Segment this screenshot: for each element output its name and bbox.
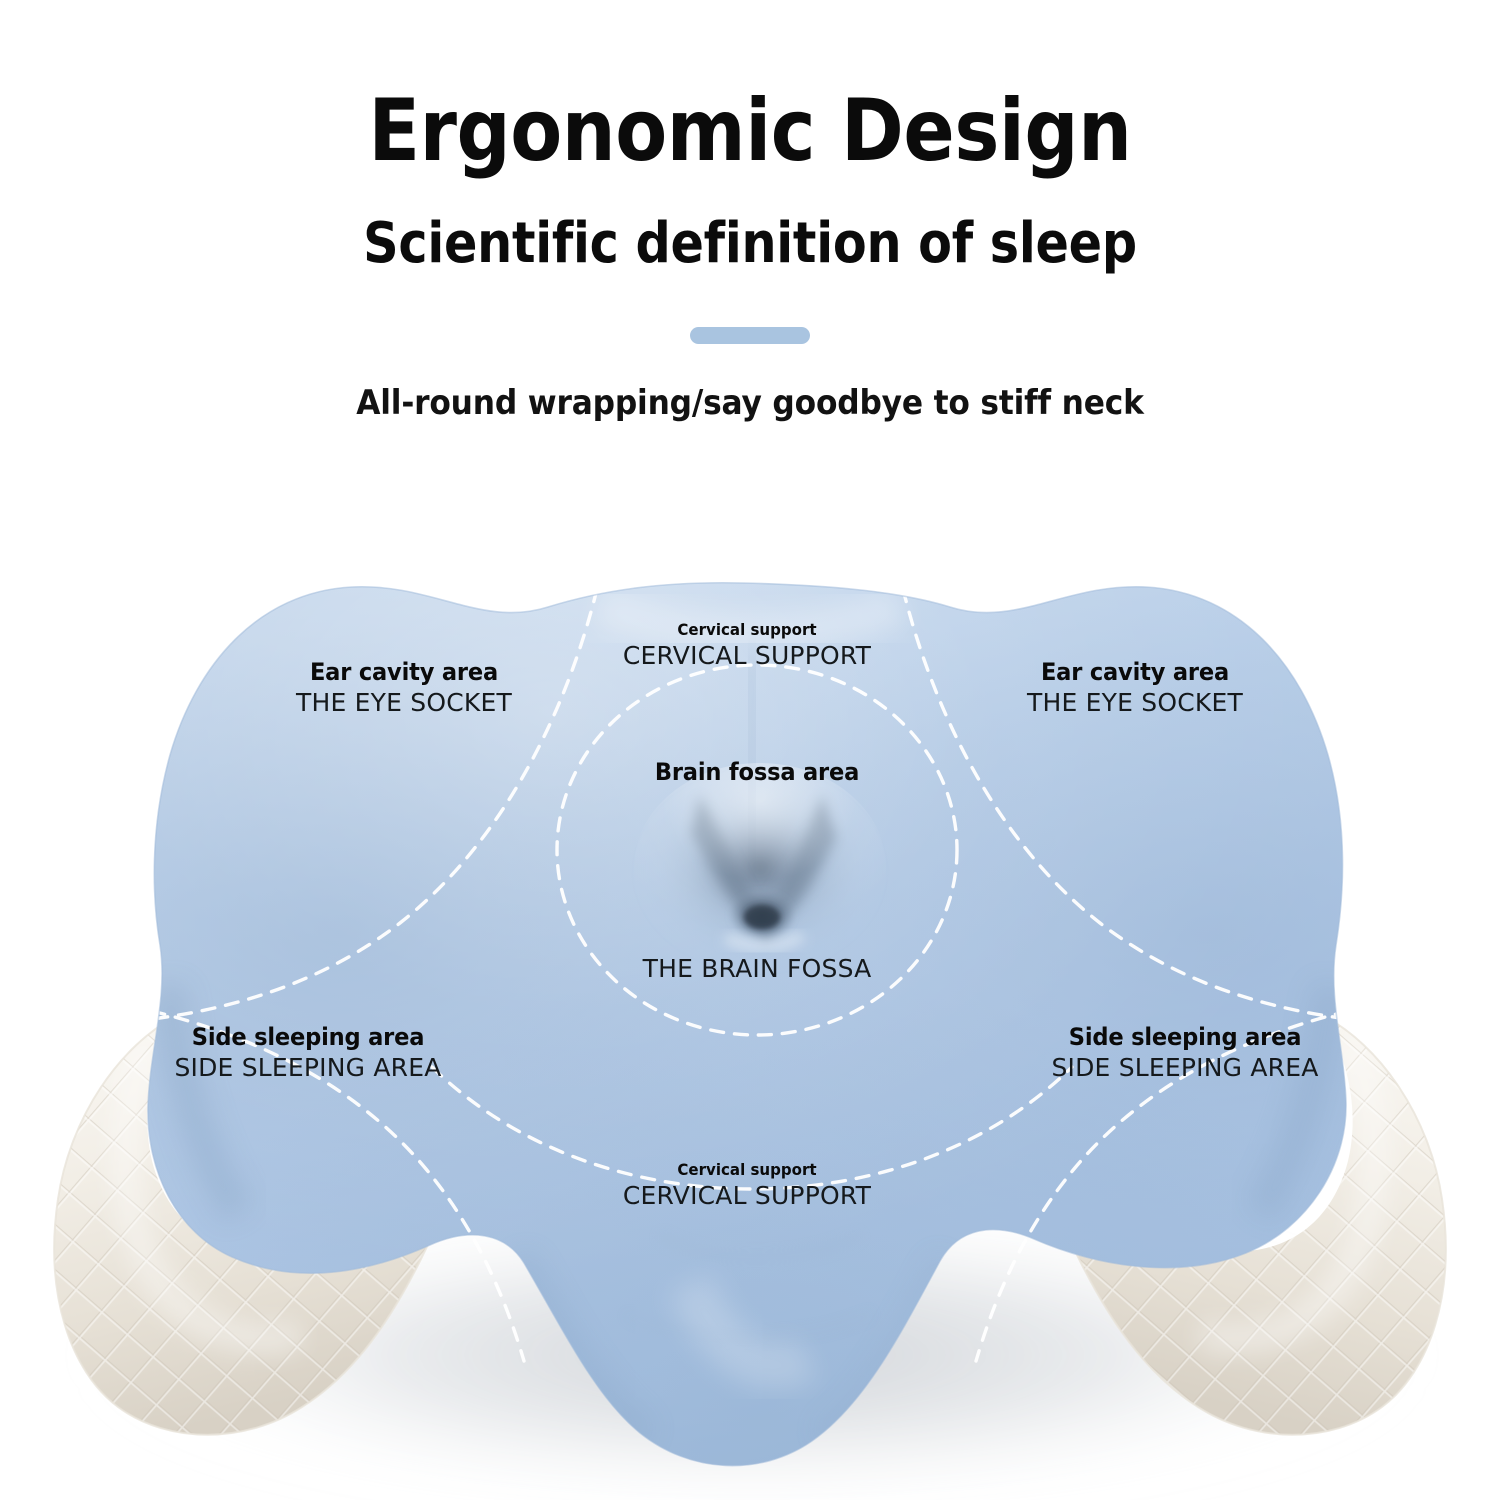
page-tagline: All-round wrapping/say goodbye to stiff … [60,348,1440,420]
pillow-svg [0,545,1500,1500]
infographic-root: Ergonomic Design Scientific definition o… [0,0,1500,1500]
divider-wrap [0,272,1500,348]
pillow-illustration [0,545,1500,1500]
page-title: Ergonomic Design [90,0,1410,174]
page-subtitle: Scientific definition of sleep [90,174,1410,272]
header-block: Ergonomic Design Scientific definition o… [0,0,1500,420]
divider-pill [690,327,810,344]
